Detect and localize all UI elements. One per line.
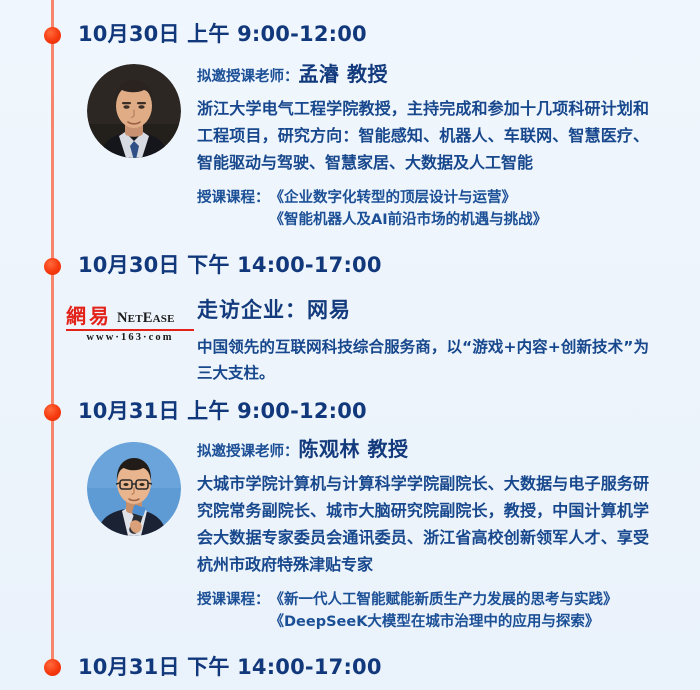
timeline-dot-2 bbox=[44, 258, 61, 275]
invite-line-2: 拟邀授课老师：陈观林 教授 bbox=[197, 437, 649, 461]
courses-list-2: 《新一代人工智能赋能新质生产力发展的思考与实践》 《DeepSeeK大模型在城市… bbox=[270, 589, 650, 633]
course-item: 《智能机器人及AI前沿市场的机遇与挑战》 bbox=[270, 212, 548, 228]
invite-label-2: 拟邀授课老师： bbox=[197, 444, 299, 460]
invite-label-1: 拟邀授课老师： bbox=[197, 69, 299, 85]
entry-time-2: 10月30日 下午 14:00-17:00 bbox=[78, 249, 382, 279]
course-item: 《企业数字化转型的顶层设计与运营》 bbox=[270, 190, 517, 206]
speaker-photo-1 bbox=[87, 64, 181, 158]
courses-label-1: 授课课程： bbox=[197, 187, 270, 209]
netease-logo-row: 網易 NETEASE bbox=[66, 306, 194, 327]
company-title: 走访企业：网易 bbox=[197, 294, 649, 324]
speaker-bio-1: 浙江大学电气工程学院教授，主持完成和参加十几项科研计划和工程项目，研究方向：智能… bbox=[197, 95, 649, 176]
speaker-bio-2: 大城市学院计算机与计算科学学院副院长、大数据与电子服务研究院常务副院长、城市大脑… bbox=[197, 470, 649, 578]
company-description: 中国领先的互联网科技综合服务商，以“游戏+内容+创新技术”为三大支柱。 bbox=[197, 334, 649, 386]
courses-list-1: 《企业数字化转型的顶层设计与运营》 《智能机器人及AI前沿市场的机遇与挑战》 bbox=[270, 187, 650, 231]
entry-time-3: 10月31日 上午 9:00-12:00 bbox=[78, 395, 367, 425]
netease-logo-cn: 網易 bbox=[66, 306, 112, 326]
netease-logo-url: www·163·com bbox=[66, 332, 194, 344]
speaker-name-2: 陈观林 教授 bbox=[299, 437, 409, 461]
timeline-dot-3 bbox=[44, 404, 61, 421]
netease-logo-en: NETEASE bbox=[117, 311, 175, 327]
timeline-dot-1 bbox=[44, 27, 61, 44]
company-details: 走访企业：网易 中国领先的互联网科技综合服务商，以“游戏+内容+创新技术”为三大… bbox=[197, 294, 649, 386]
netease-logo: 網易 NETEASE www·163·com bbox=[66, 306, 194, 344]
schedule-timeline-page: 10月30日 上午 9:00-12:00 bbox=[0, 0, 700, 690]
courses-label-2: 授课课程： bbox=[197, 589, 270, 611]
entry-time-4: 10月31日 下午 14:00-17:00 bbox=[78, 651, 382, 681]
timeline-dot-4 bbox=[44, 659, 61, 676]
speaker-name-1: 孟濬 教授 bbox=[299, 62, 388, 86]
speaker-details-1: 拟邀授课老师：孟濬 教授 浙江大学电气工程学院教授，主持完成和参加十几项科研计划… bbox=[197, 62, 649, 231]
course-item: 《DeepSeeK大模型在城市治理中的应用与探索》 bbox=[270, 614, 600, 630]
course-item: 《新一代人工智能赋能新质生产力发展的思考与实践》 bbox=[270, 592, 618, 608]
invite-line-1: 拟邀授课老师：孟濬 教授 bbox=[197, 62, 649, 86]
speaker-details-2: 拟邀授课老师：陈观林 教授 大城市学院计算机与计算科学学院副院长、大数据与电子服… bbox=[197, 437, 649, 633]
speaker-photo-2 bbox=[87, 442, 181, 536]
netease-logo-rule bbox=[66, 329, 194, 331]
speaker-courses-1: 授课课程： 《企业数字化转型的顶层设计与运营》 《智能机器人及AI前沿市场的机遇… bbox=[197, 187, 649, 231]
speaker-courses-2: 授课课程： 《新一代人工智能赋能新质生产力发展的思考与实践》 《DeepSeeK… bbox=[197, 589, 649, 633]
timeline-rail bbox=[51, 0, 54, 668]
entry-time-1: 10月30日 上午 9:00-12:00 bbox=[78, 18, 367, 48]
